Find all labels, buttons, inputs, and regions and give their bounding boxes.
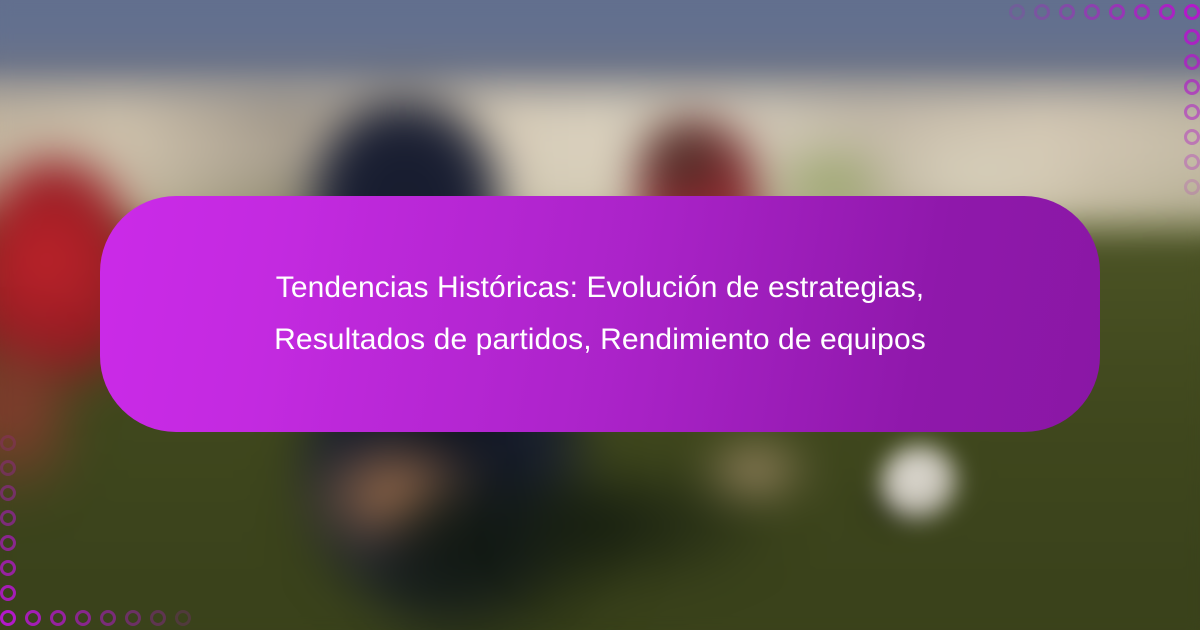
- share-card-canvas: Tendencias Históricas: Evolución de estr…: [0, 0, 1200, 630]
- headline-card: Tendencias Históricas: Evolución de estr…: [100, 196, 1100, 432]
- background-soccer-ball: [880, 445, 960, 525]
- page-title: Tendencias Históricas: Evolución de estr…: [200, 262, 1000, 366]
- background-player-shoe: [700, 440, 810, 500]
